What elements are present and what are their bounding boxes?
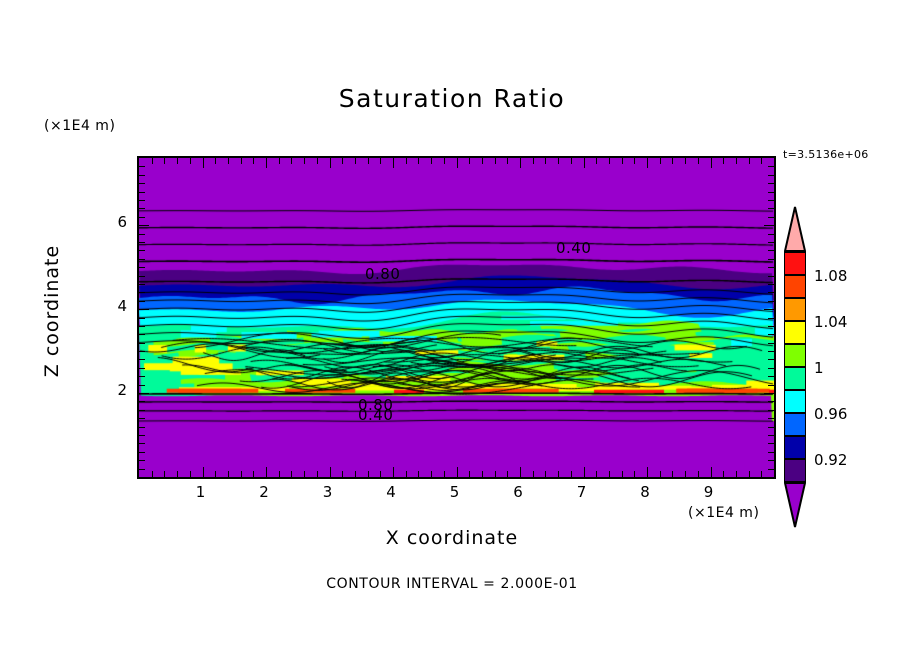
colorbar-tick-label: 1.08 [814, 267, 847, 285]
axis-tick [138, 452, 145, 453]
axis-tick [203, 157, 204, 168]
axis-tick [768, 217, 775, 218]
axis-tick [138, 435, 145, 436]
axis-tick [764, 225, 775, 226]
axis-tick [406, 157, 407, 164]
axis-tick [138, 301, 145, 302]
axis-tick [768, 175, 775, 176]
contour-label: 0.40 [358, 406, 393, 424]
axis-tick [215, 471, 216, 478]
x-tick-label: 7 [562, 483, 602, 501]
axis-tick [768, 301, 775, 302]
axis-tick [482, 471, 483, 478]
axis-tick [431, 157, 432, 164]
axis-tick [768, 192, 775, 193]
axis-tick [584, 157, 585, 168]
axis-tick [279, 471, 280, 478]
axis-tick [138, 318, 145, 319]
x-tick-label: 5 [435, 483, 475, 501]
axis-tick [138, 208, 145, 209]
axis-tick [203, 467, 204, 478]
axis-tick [138, 343, 145, 344]
axis-tick [138, 393, 149, 394]
axis-tick [768, 318, 775, 319]
axis-tick [138, 284, 145, 285]
contour-plot-area[interactable] [137, 156, 776, 479]
axis-tick [634, 157, 635, 164]
x-axis-unit-label: (×1E4 m) [688, 505, 759, 521]
axis-tick [355, 471, 356, 478]
axis-tick [768, 368, 775, 369]
axis-tick [533, 471, 534, 478]
axis-tick [279, 157, 280, 164]
colorbar-cell [784, 459, 806, 482]
x-tick-label: 9 [689, 483, 729, 501]
contour-interval-note: CONTOUR INTERVAL = 2.000E-01 [0, 576, 904, 592]
axis-tick [660, 471, 661, 478]
axis-tick [330, 467, 331, 478]
axis-tick [571, 471, 572, 478]
axis-tick [164, 471, 165, 478]
axis-tick [571, 157, 572, 164]
axis-tick [138, 234, 145, 235]
axis-tick [291, 157, 292, 164]
axis-tick [138, 460, 145, 461]
x-tick-label: 1 [181, 483, 221, 501]
axis-tick [495, 471, 496, 478]
colorbar-cell [784, 275, 806, 298]
axis-tick [138, 410, 145, 411]
axis-tick [138, 418, 145, 419]
axis-tick [228, 471, 229, 478]
colorbar-tick-label: 1 [814, 359, 824, 377]
axis-tick [138, 326, 145, 327]
axis-tick [482, 157, 483, 164]
axis-tick [138, 292, 145, 293]
axis-tick [768, 427, 775, 428]
axis-tick [768, 292, 775, 293]
axis-tick [469, 471, 470, 478]
axis-tick [768, 343, 775, 344]
axis-tick [138, 250, 145, 251]
axis-tick [507, 157, 508, 164]
colorbar-cell [784, 298, 806, 321]
axis-tick [609, 157, 610, 164]
axis-tick [190, 471, 191, 478]
axis-tick [138, 242, 145, 243]
axis-tick [768, 376, 775, 377]
axis-tick [764, 309, 775, 310]
page-title: Saturation Ratio [0, 84, 904, 113]
axis-tick [596, 157, 597, 164]
axis-tick [266, 467, 267, 478]
axis-tick [253, 157, 254, 164]
axis-tick [647, 157, 648, 168]
axis-tick [698, 157, 699, 164]
axis-tick [138, 183, 145, 184]
axis-tick [138, 351, 145, 352]
axis-tick [266, 157, 267, 168]
axis-tick [768, 183, 775, 184]
axis-tick [138, 175, 145, 176]
axis-tick [768, 250, 775, 251]
axis-tick [768, 418, 775, 419]
axis-tick [138, 276, 145, 277]
axis-tick [545, 471, 546, 478]
axis-tick [698, 471, 699, 478]
axis-tick [768, 359, 775, 360]
axis-tick [768, 443, 775, 444]
axis-tick [393, 157, 394, 168]
axis-tick [768, 410, 775, 411]
axis-tick [342, 157, 343, 164]
axis-tick [768, 452, 775, 453]
colorbar-top-arrow [784, 206, 806, 252]
axis-tick [711, 157, 712, 168]
axis-tick [558, 157, 559, 164]
axis-tick [768, 166, 775, 167]
axis-tick [138, 259, 145, 260]
axis-tick [768, 234, 775, 235]
axis-tick [736, 157, 737, 164]
axis-tick [634, 471, 635, 478]
axis-tick [507, 471, 508, 478]
x-axis-title: X coordinate [0, 527, 904, 549]
axis-tick [317, 471, 318, 478]
axis-tick [622, 471, 623, 478]
axis-tick [177, 471, 178, 478]
axis-tick [152, 157, 153, 164]
x-tick-label: 3 [308, 483, 348, 501]
axis-tick [138, 200, 145, 201]
axis-tick [291, 471, 292, 478]
colorbar-tick-label: 0.96 [814, 405, 847, 423]
axis-tick [138, 385, 145, 386]
axis-tick [138, 192, 145, 193]
axis-tick [228, 157, 229, 164]
colorbar-cell [784, 390, 806, 413]
axis-tick [253, 471, 254, 478]
axis-tick [764, 393, 775, 394]
axis-tick [138, 469, 145, 470]
axis-tick [558, 471, 559, 478]
axis-tick [749, 471, 750, 478]
axis-tick [520, 467, 521, 478]
colorbar-cell [784, 344, 806, 367]
axis-tick [768, 284, 775, 285]
axis-tick [768, 326, 775, 327]
axis-tick [241, 157, 242, 164]
axis-tick [711, 467, 712, 478]
contour-label: 0.80 [365, 265, 400, 283]
axis-tick [152, 471, 153, 478]
axis-tick [596, 471, 597, 478]
axis-tick [768, 208, 775, 209]
y-tick-label: 2 [87, 381, 127, 399]
axis-tick [138, 376, 145, 377]
axis-tick [138, 359, 145, 360]
axis-tick [368, 471, 369, 478]
contour-field-canvas [139, 158, 774, 477]
axis-tick [406, 471, 407, 478]
axis-tick [190, 157, 191, 164]
axis-tick [138, 427, 145, 428]
colorbar-cell [784, 413, 806, 436]
axis-tick [736, 471, 737, 478]
axis-tick [138, 166, 145, 167]
axis-tick [768, 242, 775, 243]
axis-tick [723, 471, 724, 478]
axis-tick [138, 368, 145, 369]
timestamp-label: t=3.5136e+06 [783, 148, 869, 161]
colorbar-tick-label: 1.04 [814, 313, 847, 331]
axis-tick [138, 225, 149, 226]
y-axis-title: Z coordinate [41, 231, 63, 391]
x-tick-label: 6 [498, 483, 538, 501]
axis-tick [138, 217, 145, 218]
axis-tick [431, 471, 432, 478]
x-tick-label: 4 [371, 483, 411, 501]
axis-tick [457, 467, 458, 478]
colorbar-cell [784, 252, 806, 275]
axis-tick [138, 401, 145, 402]
axis-tick [520, 157, 521, 168]
axis-tick [380, 471, 381, 478]
axis-tick [304, 471, 305, 478]
axis-tick [304, 157, 305, 164]
axis-tick [330, 157, 331, 168]
axis-tick [355, 157, 356, 164]
colorbar-cell [784, 321, 806, 344]
axis-tick [768, 267, 775, 268]
axis-tick [685, 157, 686, 164]
axis-tick [241, 471, 242, 478]
axis-tick [622, 157, 623, 164]
axis-tick [418, 471, 419, 478]
axis-tick [368, 157, 369, 164]
x-tick-label: 2 [244, 483, 284, 501]
axis-tick [768, 276, 775, 277]
axis-tick [342, 471, 343, 478]
axis-tick [723, 157, 724, 164]
axis-tick [215, 157, 216, 164]
y-tick-label: 6 [87, 213, 127, 231]
axis-tick [768, 334, 775, 335]
y-tick-label: 4 [87, 297, 127, 315]
axis-tick [672, 471, 673, 478]
axis-tick [469, 157, 470, 164]
colorbar-cell [784, 367, 806, 390]
colorbar-tick-label: 0.92 [814, 451, 847, 469]
x-tick-label: 8 [625, 483, 665, 501]
axis-tick [164, 157, 165, 164]
axis-tick [177, 157, 178, 164]
axis-tick [138, 309, 149, 310]
axis-tick [749, 157, 750, 164]
axis-tick [393, 467, 394, 478]
axis-tick [609, 471, 610, 478]
axis-tick [138, 443, 145, 444]
axis-tick [138, 267, 145, 268]
axis-tick [533, 157, 534, 164]
axis-tick [761, 157, 762, 164]
axis-tick [768, 469, 775, 470]
axis-tick [768, 385, 775, 386]
contour-label: 0.40 [556, 239, 591, 257]
axis-tick [768, 259, 775, 260]
axis-tick [444, 471, 445, 478]
axis-tick [768, 401, 775, 402]
y-axis-unit-label: (×1E4 m) [44, 118, 115, 134]
axis-tick [495, 157, 496, 164]
axis-tick [672, 157, 673, 164]
axis-tick [418, 157, 419, 164]
axis-tick [660, 157, 661, 164]
axis-tick [768, 200, 775, 201]
colorbar-bottom-arrow [784, 482, 806, 528]
axis-tick [457, 157, 458, 168]
colorbar-cell [784, 436, 806, 459]
axis-tick [768, 460, 775, 461]
axis-tick [444, 157, 445, 164]
axis-tick [545, 157, 546, 164]
axis-tick [317, 157, 318, 164]
axis-tick [380, 157, 381, 164]
axis-tick [761, 471, 762, 478]
axis-tick [685, 471, 686, 478]
axis-tick [584, 467, 585, 478]
axis-tick [768, 351, 775, 352]
axis-tick [768, 435, 775, 436]
axis-tick [138, 334, 145, 335]
axis-tick [647, 467, 648, 478]
